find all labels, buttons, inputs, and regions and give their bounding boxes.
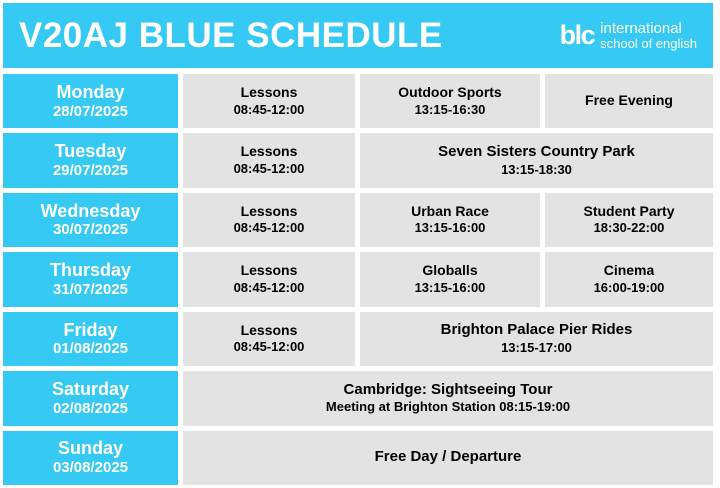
activity-title: Brighton Palace Pier Rides: [441, 321, 633, 340]
day-cell: Friday 01/08/2025: [3, 312, 178, 366]
day-name: Tuesday: [55, 141, 127, 162]
day-date: 29/07/2025: [53, 162, 128, 180]
activity-title: Cinema: [604, 262, 655, 280]
activity-time: 08:45-12:00: [234, 220, 305, 237]
activity-time: 13:15-18:30: [501, 162, 572, 179]
table-row: Sunday 03/08/2025 Free Day / Departure: [3, 431, 713, 485]
activity-title: Globalls: [422, 262, 477, 280]
activity-cell-morning: Lessons 08:45-12:00: [183, 252, 355, 306]
activity-cell-fullday: Cambridge: Sightseeing Tour Meeting at B…: [183, 371, 713, 425]
activity-cell-morning: Lessons 08:45-12:00: [183, 193, 355, 247]
activity-title: Lessons: [241, 262, 298, 280]
activity-time: 13:15-16:00: [415, 220, 486, 237]
activity-time: 08:45-12:00: [234, 102, 305, 119]
day-date: 28/07/2025: [53, 103, 128, 121]
day-cell: Thursday 31/07/2025: [3, 252, 178, 306]
activity-title: Cambridge: Sightseeing Tour: [344, 381, 553, 400]
schedule-poster: V20AJ BLUE SCHEDULE blc international sc…: [0, 0, 720, 488]
activity-cell-morning: Lessons 08:45-12:00: [183, 133, 355, 187]
day-date: 31/07/2025: [53, 281, 128, 299]
activity-time: 08:45-12:00: [234, 280, 305, 297]
logo-mark: blc: [560, 22, 595, 49]
activity-title: Lessons: [241, 143, 298, 161]
activity-cell-afternoon: Globalls 13:15-16:00: [360, 252, 540, 306]
logo-line-1: international: [600, 21, 697, 37]
activity-cell-evening: Student Party 18:30-22:00: [545, 193, 713, 247]
day-cell: Wednesday 30/07/2025: [3, 193, 178, 247]
activity-title: Lessons: [241, 84, 298, 102]
activity-cell-morning: Lessons 08:45-12:00: [183, 74, 355, 128]
day-name: Monday: [56, 82, 124, 103]
day-name: Sunday: [58, 438, 123, 459]
activity-title: Free Day / Departure: [375, 448, 522, 467]
day-cell: Saturday 02/08/2025: [3, 371, 178, 425]
activity-time: 16:00-19:00: [594, 280, 665, 297]
brand-logo: blc international school of english: [560, 21, 699, 50]
logo-line-2: school of english: [600, 37, 697, 51]
activity-cell-evening: Cinema 16:00-19:00: [545, 252, 713, 306]
poster-header: V20AJ BLUE SCHEDULE blc international sc…: [3, 3, 713, 68]
day-name: Thursday: [50, 260, 131, 281]
day-name: Saturday: [52, 379, 129, 400]
day-name: Friday: [63, 320, 117, 341]
table-row: Wednesday 30/07/2025 Lessons 08:45-12:00…: [3, 193, 713, 247]
page-title: V20AJ BLUE SCHEDULE: [19, 18, 443, 53]
activity-title: Free Evening: [585, 92, 673, 110]
activity-title: Lessons: [241, 203, 298, 221]
day-date: 03/08/2025: [53, 459, 128, 477]
activity-time: 08:45-12:00: [234, 339, 305, 356]
logo-text: international school of english: [600, 21, 697, 50]
activity-time: Meeting at Brighton Station 08:15-19:00: [326, 399, 570, 416]
activity-cell-afternoon: Urban Race 13:15-16:00: [360, 193, 540, 247]
activity-title: Urban Race: [411, 203, 489, 221]
activity-cell-afternoon: Brighton Palace Pier Rides 13:15-17:00: [360, 312, 713, 366]
day-cell: Tuesday 29/07/2025: [3, 133, 178, 187]
activity-title: Student Party: [583, 203, 674, 221]
activity-cell-fullday: Free Day / Departure: [183, 431, 713, 485]
day-date: 01/08/2025: [53, 340, 128, 358]
activity-cell-evening: Free Evening: [545, 74, 713, 128]
day-cell: Monday 28/07/2025: [3, 74, 178, 128]
day-cell: Sunday 03/08/2025: [3, 431, 178, 485]
activity-time: 13:15-16:00: [415, 280, 486, 297]
day-date: 30/07/2025: [53, 221, 128, 239]
schedule-table: Monday 28/07/2025 Lessons 08:45-12:00 Ou…: [3, 74, 713, 485]
activity-cell-afternoon: Outdoor Sports 13:15-16:30: [360, 74, 540, 128]
activity-cell-afternoon: Seven Sisters Country Park 13:15-18:30: [360, 133, 713, 187]
table-row: Saturday 02/08/2025 Cambridge: Sightseei…: [3, 371, 713, 425]
activity-title: Lessons: [241, 322, 298, 340]
day-name: Wednesday: [41, 201, 141, 222]
activity-time: 13:15-17:00: [501, 340, 572, 357]
activity-time: 13:15-16:30: [415, 102, 486, 119]
table-row: Friday 01/08/2025 Lessons 08:45-12:00 Br…: [3, 312, 713, 366]
day-date: 02/08/2025: [53, 400, 128, 418]
table-row: Monday 28/07/2025 Lessons 08:45-12:00 Ou…: [3, 74, 713, 128]
activity-time: 18:30-22:00: [594, 220, 665, 237]
activity-title: Outdoor Sports: [398, 84, 501, 102]
activity-title: Seven Sisters Country Park: [438, 143, 635, 162]
activity-time: 08:45-12:00: [234, 161, 305, 178]
table-row: Thursday 31/07/2025 Lessons 08:45-12:00 …: [3, 252, 713, 306]
table-row: Tuesday 29/07/2025 Lessons 08:45-12:00 S…: [3, 133, 713, 187]
activity-cell-morning: Lessons 08:45-12:00: [183, 312, 355, 366]
